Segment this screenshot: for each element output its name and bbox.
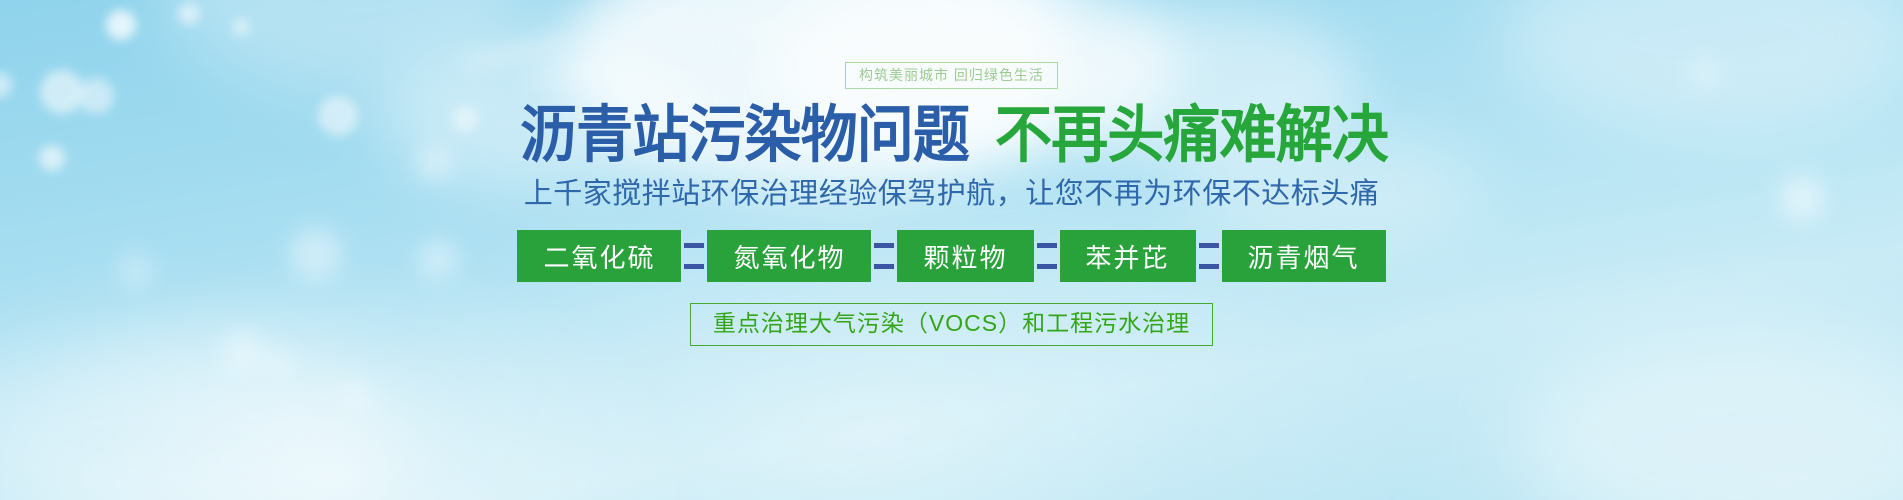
pollutant-tag[interactable]: 二氧化硫	[517, 230, 681, 282]
tagline-badge: 构筑美丽城市 回归绿色生活	[845, 62, 1058, 89]
tag-separator	[681, 230, 707, 282]
subtitle-text: 上千家搅拌站环保治理经验保驾护航，让您不再为环保不达标头痛	[524, 180, 1380, 209]
dash-icon	[1199, 243, 1219, 248]
service-scope-note: 重点治理大气污染（VOCS）和工程污水治理	[690, 303, 1213, 346]
pollutant-tag[interactable]: 颗粒物	[897, 230, 1033, 282]
tag-separator	[871, 230, 897, 282]
page-title: 沥青站污染物问题 不再头痛难解决	[481, 105, 1422, 167]
headline-green-text: 不再头痛难解决	[995, 105, 1388, 167]
tag-separator	[1196, 230, 1222, 282]
headline-blue-text: 沥青站污染物问题	[520, 105, 969, 167]
dash-icon	[874, 243, 894, 248]
pollutant-tag-list: 二氧化硫 氮氧化物 颗粒物 苯并芘 沥青烟气	[517, 230, 1385, 282]
dash-icon	[684, 264, 704, 269]
banner-content: 构筑美丽城市 回归绿色生活 沥青站污染物问题 不再头痛难解决 上千家搅拌站环保治…	[0, 0, 1903, 500]
dash-icon	[1199, 264, 1219, 269]
pollutant-tag[interactable]: 沥青烟气	[1222, 230, 1386, 282]
hero-banner: 构筑美丽城市 回归绿色生活 沥青站污染物问题 不再头痛难解决 上千家搅拌站环保治…	[0, 0, 1903, 500]
pollutant-tag[interactable]: 氮氧化物	[707, 230, 871, 282]
tag-separator	[1034, 230, 1060, 282]
pollutant-tag[interactable]: 苯并芘	[1060, 230, 1196, 282]
dash-icon	[1037, 243, 1057, 248]
dash-icon	[1037, 264, 1057, 269]
dash-icon	[874, 264, 894, 269]
dash-icon	[684, 243, 704, 248]
